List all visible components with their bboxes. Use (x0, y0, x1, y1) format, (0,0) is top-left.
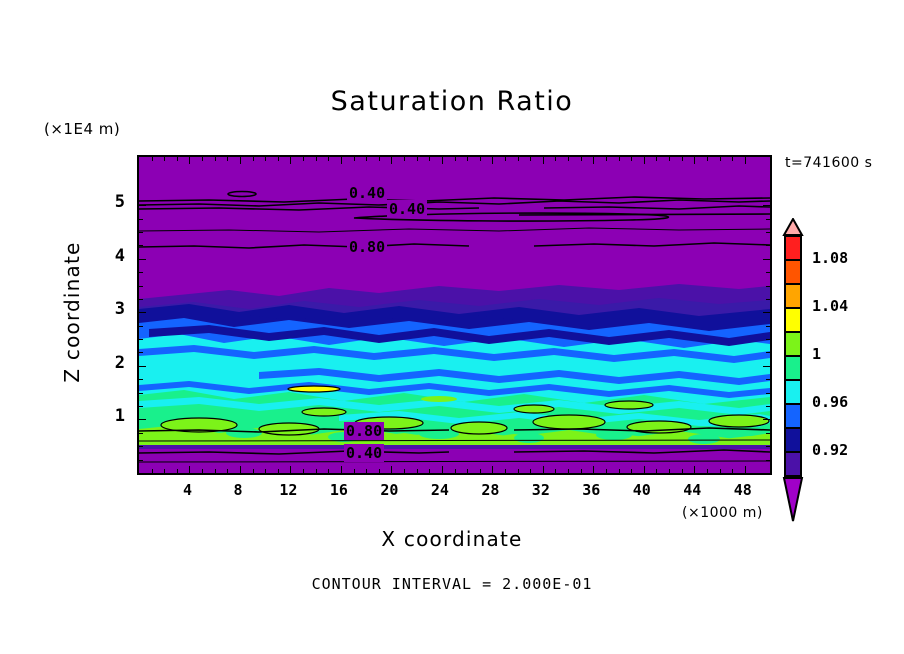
x-minor-tick (278, 157, 279, 161)
x-minor-tick (467, 469, 468, 473)
x-minor-tick (505, 157, 506, 161)
x-tick-mark (745, 466, 746, 473)
x-minor-tick (253, 157, 254, 161)
x-tick-mark (341, 466, 342, 473)
x-tick-mark (593, 466, 594, 473)
x-minor-tick (555, 157, 556, 161)
x-tick-label: 20 (369, 481, 409, 499)
y-minor-tick (139, 393, 143, 394)
x-tick-mark (492, 466, 493, 473)
x-minor-tick (682, 157, 683, 161)
y-tick-mark (763, 259, 770, 260)
x-minor-tick (265, 157, 266, 161)
contour-label-0: 0.40 (347, 184, 387, 202)
x-minor-tick (152, 157, 153, 161)
x-tick-label: 32 (521, 481, 561, 499)
x-minor-tick (455, 469, 456, 473)
colorbar-band-chartreuse (784, 331, 802, 357)
contour-plot-area: 0.40 0.40 0.80 0.80 0.40 (137, 155, 772, 475)
colorbar-band-orange (784, 283, 802, 309)
y-minor-tick (139, 232, 143, 233)
colorbar-tick-label: 1.04 (812, 297, 848, 315)
x-minor-tick (707, 157, 708, 161)
contour-label-4: 0.40 (344, 444, 384, 462)
x-tick-label: 40 (622, 481, 662, 499)
x-minor-tick (328, 157, 329, 161)
x-tick-label: 24 (420, 481, 460, 499)
x-tick-mark (341, 157, 342, 164)
x-minor-tick (619, 157, 620, 161)
x-minor-tick (379, 469, 380, 473)
y-tick-label: 1 (95, 406, 125, 426)
y-minor-tick (139, 460, 143, 461)
x-minor-tick (518, 469, 519, 473)
x-minor-tick (480, 157, 481, 161)
x-tick-label: 28 (470, 481, 510, 499)
x-minor-tick (227, 469, 228, 473)
x-minor-tick (707, 469, 708, 473)
y-minor-tick (139, 286, 143, 287)
x-minor-tick (328, 469, 329, 473)
x-tick-mark (290, 157, 291, 164)
y-minor-tick (766, 393, 770, 394)
x-tick-label: 12 (268, 481, 308, 499)
x-minor-tick (202, 469, 203, 473)
x-minor-tick (606, 469, 607, 473)
y-tick-label: 4 (95, 246, 125, 266)
y-minor-tick (766, 379, 770, 380)
x-tick-label: 4 (167, 481, 207, 499)
y-minor-tick (766, 406, 770, 407)
x-minor-tick (682, 469, 683, 473)
x-minor-tick (606, 157, 607, 161)
x-tick-mark (290, 466, 291, 473)
x-minor-tick (530, 469, 531, 473)
x-minor-tick (631, 469, 632, 473)
colorbar-tick-label: 1.08 (812, 249, 848, 267)
y-minor-tick (139, 406, 143, 407)
x-minor-tick (581, 157, 582, 161)
x-minor-tick (354, 469, 355, 473)
colorbar-tick-label: 0.92 (812, 441, 848, 459)
y-minor-tick (139, 219, 143, 220)
x-minor-tick (669, 469, 670, 473)
x-tick-mark (694, 466, 695, 473)
colorbar-band-yellow (784, 307, 802, 333)
y-tick-mark (763, 205, 770, 206)
colorbar-tick-label: 1 (812, 345, 821, 363)
y-minor-tick (139, 339, 143, 340)
x-tick-label: 44 (672, 481, 712, 499)
x-minor-tick (253, 469, 254, 473)
x-tick-mark (391, 466, 392, 473)
x-minor-tick (316, 157, 317, 161)
x-tick-mark (644, 466, 645, 473)
timestamp-label: t=741600 s (785, 155, 872, 171)
x-minor-tick (215, 157, 216, 161)
y-minor-tick (139, 326, 143, 327)
y-minor-tick (139, 446, 143, 447)
colorbar-band-cyan (784, 379, 802, 405)
x-minor-tick (316, 469, 317, 473)
x-minor-tick (177, 157, 178, 161)
y-minor-tick (766, 245, 770, 246)
x-tick-mark (442, 466, 443, 473)
y-minor-tick (766, 219, 770, 220)
y-tick-mark (763, 312, 770, 313)
y-tick-mark (139, 259, 146, 260)
x-tick-mark (240, 157, 241, 164)
y-axis-title: Z coordinate (60, 232, 84, 392)
x-minor-tick (379, 157, 380, 161)
y-minor-tick (766, 232, 770, 233)
y-minor-tick (766, 446, 770, 447)
x-minor-tick (227, 157, 228, 161)
colorbar-band-navy (784, 427, 802, 453)
x-axis-unit-label: (×1000 m) (682, 505, 763, 521)
y-minor-tick (766, 460, 770, 461)
x-tick-mark (745, 157, 746, 164)
x-minor-tick (505, 469, 506, 473)
y-minor-tick (766, 272, 770, 273)
x-tick-label: 36 (571, 481, 611, 499)
y-tick-mark (139, 312, 146, 313)
y-tick-mark (139, 366, 146, 367)
x-tick-mark (240, 466, 241, 473)
x-minor-tick (656, 469, 657, 473)
y-tick-mark (139, 205, 146, 206)
x-tick-mark (694, 157, 695, 164)
y-minor-tick (139, 379, 143, 380)
x-minor-tick (568, 469, 569, 473)
x-tick-label: 8 (218, 481, 258, 499)
y-minor-tick (139, 245, 143, 246)
x-minor-tick (656, 157, 657, 161)
x-tick-mark (593, 157, 594, 164)
colorbar-bottom-arrow-icon (780, 477, 806, 523)
x-minor-tick (366, 157, 367, 161)
x-minor-tick (164, 469, 165, 473)
x-minor-tick (404, 469, 405, 473)
x-tick-mark (492, 157, 493, 164)
x-minor-tick (568, 157, 569, 161)
x-minor-tick (619, 469, 620, 473)
x-minor-tick (732, 469, 733, 473)
y-tick-mark (763, 419, 770, 420)
x-minor-tick (417, 469, 418, 473)
x-minor-tick (669, 157, 670, 161)
colorbar-band-violet (784, 451, 802, 477)
x-minor-tick (429, 157, 430, 161)
x-minor-tick (555, 469, 556, 473)
y-minor-tick (766, 352, 770, 353)
x-tick-label: 16 (319, 481, 359, 499)
x-tick-mark (543, 466, 544, 473)
colorbar-tick-label: 0.96 (812, 393, 848, 411)
x-minor-tick (467, 157, 468, 161)
contour-field (139, 157, 770, 473)
x-minor-tick (303, 469, 304, 473)
y-minor-tick (766, 339, 770, 340)
y-minor-tick (766, 326, 770, 327)
x-axis-title: X coordinate (0, 527, 904, 551)
x-minor-tick (581, 469, 582, 473)
colorbar-band-orange-red (784, 259, 802, 285)
x-minor-tick (354, 157, 355, 161)
x-minor-tick (215, 469, 216, 473)
y-minor-tick (139, 272, 143, 273)
x-tick-mark (391, 157, 392, 164)
x-minor-tick (480, 469, 481, 473)
contour-label-2: 0.80 (347, 238, 387, 256)
colorbar[interactable]: 1.081.0410.960.92 (782, 233, 804, 515)
colorbar-band-red (784, 235, 802, 261)
x-minor-tick (720, 469, 721, 473)
y-tick-mark (763, 366, 770, 367)
x-tick-mark (644, 157, 645, 164)
contour-interval-caption: CONTOUR INTERVAL = 2.000E-01 (0, 575, 904, 593)
x-minor-tick (455, 157, 456, 161)
x-minor-tick (177, 469, 178, 473)
x-minor-tick (265, 469, 266, 473)
x-minor-tick (530, 157, 531, 161)
y-tick-label: 5 (95, 192, 125, 212)
y-minor-tick (139, 433, 143, 434)
y-tick-mark (139, 419, 146, 420)
y-minor-tick (139, 352, 143, 353)
x-tick-mark (442, 157, 443, 164)
x-minor-tick (417, 157, 418, 161)
y-tick-label: 2 (95, 353, 125, 373)
x-minor-tick (518, 157, 519, 161)
colorbar-top-arrow-icon (780, 218, 806, 236)
x-minor-tick (631, 157, 632, 161)
page-title: Saturation Ratio (0, 86, 904, 117)
x-minor-tick (404, 157, 405, 161)
colorbar-band-blue (784, 403, 802, 429)
contour-label-1: 0.40 (387, 200, 427, 218)
y-minor-tick (766, 286, 770, 287)
y-minor-tick (766, 299, 770, 300)
x-minor-tick (366, 469, 367, 473)
x-minor-tick (720, 157, 721, 161)
colorbar-band-spring-green (784, 355, 802, 381)
x-tick-mark (189, 157, 190, 164)
y-tick-label: 3 (95, 299, 125, 319)
y-minor-tick (766, 433, 770, 434)
x-minor-tick (164, 157, 165, 161)
x-minor-tick (429, 469, 430, 473)
y-axis-unit-label: (×1E4 m) (44, 120, 120, 138)
x-minor-tick (202, 157, 203, 161)
y-minor-tick (139, 299, 143, 300)
x-minor-tick (152, 469, 153, 473)
x-minor-tick (732, 157, 733, 161)
x-minor-tick (303, 157, 304, 161)
x-tick-label: 48 (723, 481, 763, 499)
x-tick-mark (543, 157, 544, 164)
contour-label-3: 0.80 (344, 422, 384, 440)
x-minor-tick (278, 469, 279, 473)
x-tick-mark (189, 466, 190, 473)
